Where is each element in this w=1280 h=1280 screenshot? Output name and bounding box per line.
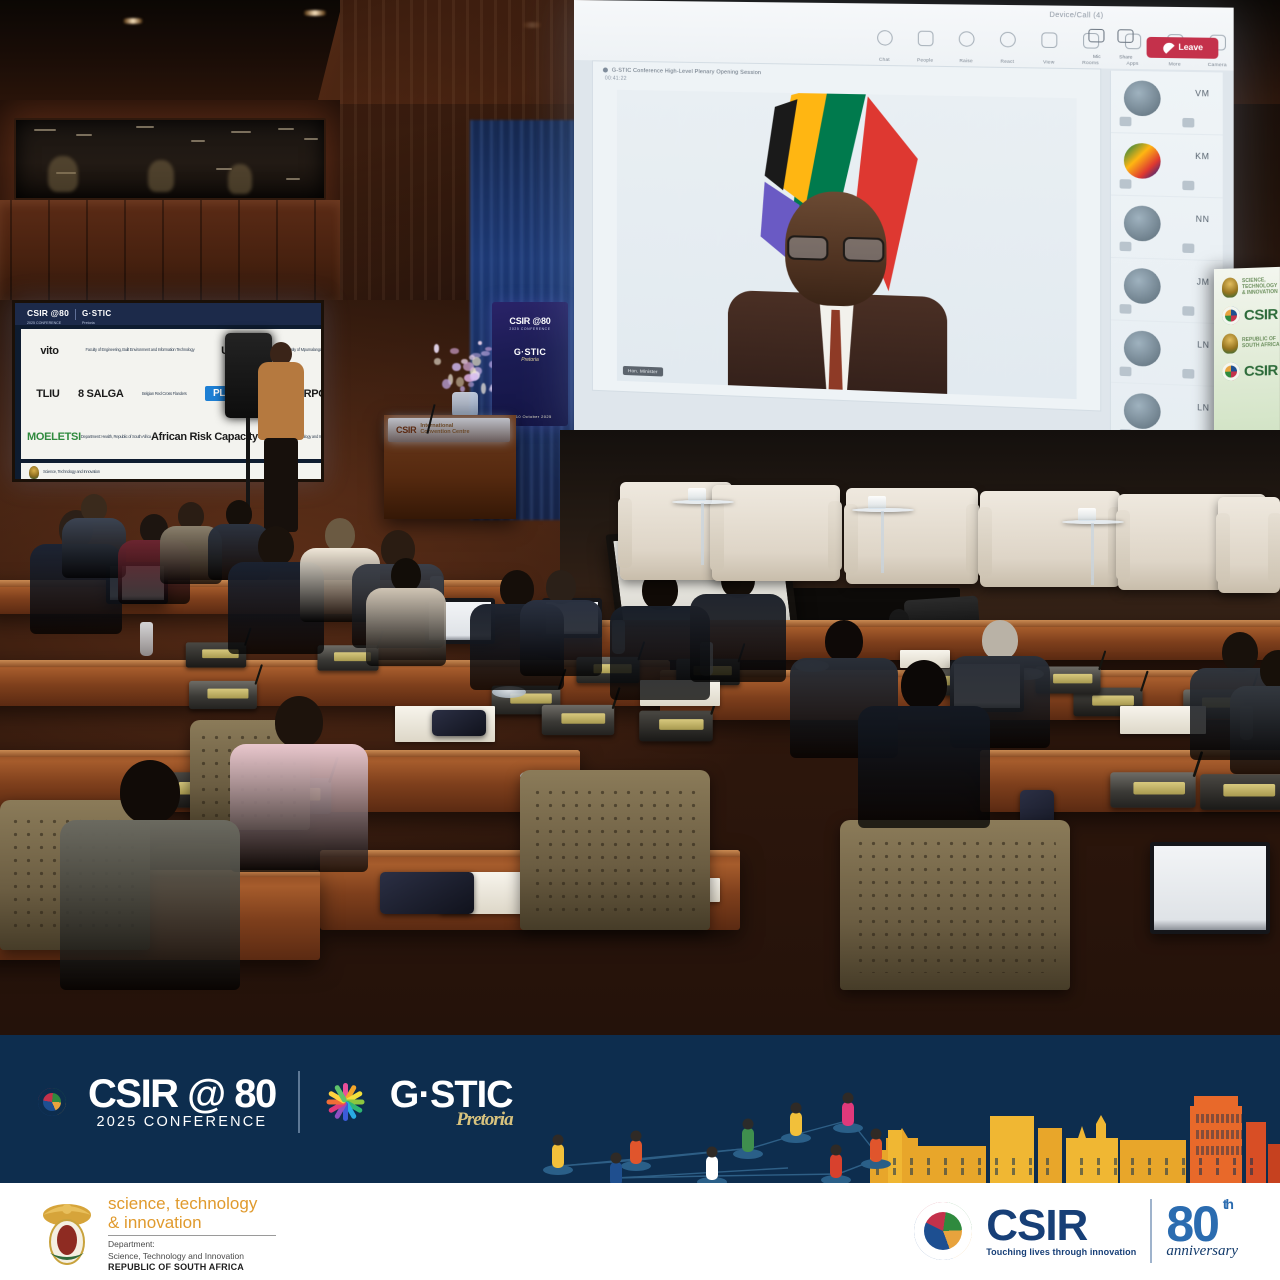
csir-logo-icon [914,1202,972,1260]
stage-armchair [846,488,978,584]
wood-slat [368,0,371,300]
delegate-microphone-unit[interactable] [1110,772,1195,808]
participant-tile[interactable]: JM [1111,258,1223,324]
share-screen-icon [1118,29,1134,43]
person-torso [520,600,602,676]
footer-brand-band: CSIR @ 80 2025 CONFERENCE G·STIC Pretori… [0,1035,1280,1183]
ceiling-light [300,10,330,16]
pullup-dsi-row-2: REPUBLIC OF SOUTH AFRICA [1214,323,1280,354]
presenter-body [258,362,304,440]
partner-logo: Department: Health, Republic of South Af… [81,435,151,440]
armrest [844,504,858,574]
interpreter-booth-glass [14,118,326,200]
participant-initials: JM [1197,277,1210,287]
armrest [710,501,724,571]
ceiling-light [120,18,146,24]
wood-slat [340,0,343,300]
wood-slat [424,0,427,300]
active-speaker-tile[interactable]: Hon. Minister [617,90,1077,399]
water-glasses [868,496,886,509]
booth-highlight [76,134,92,136]
person-torso [858,706,990,828]
speaker-glasses [787,235,884,262]
csir-80-wordmark: CSIR @ 80 2025 CONFERENCE [88,1075,276,1130]
anniversary-block: 80 th anniversary [1166,1202,1238,1260]
booth-highlight [286,178,300,180]
slide-header-gstic: G·STIC Pretoria [82,303,112,325]
toolbar-raise[interactable]: Raise [952,31,979,67]
mic-unit-display [659,719,703,730]
coat-of-arms-icon [1222,277,1238,298]
participant-initials: LN [1197,340,1209,350]
chat-icon [877,30,893,46]
glass-side-table [672,500,734,504]
microphone-icon [1182,369,1194,379]
anniversary-number: 80 th [1166,1196,1218,1252]
mic-control[interactable]: Mic [1089,29,1105,64]
booth-highlight [136,126,154,128]
wood-slat [410,0,413,300]
stage-armchair [712,485,840,581]
person-head [325,518,355,552]
partner-logo: African Risk Capacity [151,431,258,443]
person-torso [230,744,368,872]
ledge-seam [162,200,164,300]
person-torso [366,588,446,666]
microphone-icon [1120,242,1132,252]
conference-chair [520,770,710,930]
mic-unit-display [561,713,605,724]
stage-armchair [980,491,1120,587]
person-head [825,620,863,662]
audience-member [858,660,990,832]
ledge-seam [48,200,50,300]
microphone-icon [1182,243,1194,253]
flower [450,348,459,354]
avatar [1124,143,1161,179]
armrest [828,501,842,571]
armrest [1216,513,1230,583]
conference-hall-photo: CSIR @80 2025 CONFERENCE G·STIC Pretoria… [0,0,1280,1035]
avatar [1124,80,1161,116]
footer-logo-row: CSIR @ 80 2025 CONFERENCE G·STIC Pretori… [38,1071,513,1133]
booth-highlight [191,140,205,142]
slide-header: CSIR @80 2025 CONFERENCE G·STIC Pretoria [15,303,321,325]
teams-meeting-stage: G-STIC Conference High-Level Plenary Ope… [592,60,1101,411]
audience-member [230,696,368,876]
ledge-seam [86,200,88,300]
microphone-icon [1120,304,1132,314]
flower [478,341,482,345]
teams-right-controls[interactable]: Mic Share Leave [1089,29,1219,65]
booth-ledge [0,200,340,300]
partner-logo: 8 SALGA [78,388,124,400]
wood-slat [354,0,357,300]
toolbar-chat[interactable]: Chat [871,30,898,66]
toolbar-label: Chat [879,57,890,62]
flower [434,344,440,353]
footer-white-band: science, technology & innovation Departm… [0,1183,1280,1280]
flower [470,373,477,381]
avatar [1124,330,1161,367]
audience-member [366,558,446,670]
avatar [1124,268,1161,305]
booth-occupant [228,164,252,194]
participant-initials: VM [1195,89,1209,99]
mic-unit-display [1223,784,1275,797]
participant-tile[interactable]: NN [1111,196,1223,262]
mic-unit-display [1092,696,1134,706]
slide-header-divider [75,309,76,320]
meeting-status-dot [603,67,608,72]
ledge-seam [276,200,278,300]
partner-logo: Belgian Red Cross Flanders [142,392,187,397]
delegate-microphone-unit[interactable] [1200,774,1280,810]
mobile-phone[interactable] [432,710,486,736]
participant-initials: LN [1197,403,1209,413]
logo-divider [298,1071,300,1133]
toolbar-people[interactable]: People [912,31,939,67]
wood-slat [382,0,385,300]
booth-occupant [148,160,174,192]
glass-side-table [1062,520,1124,524]
person-torso [62,518,126,578]
person-head [901,660,947,710]
share-control[interactable]: Share [1118,29,1134,64]
toolbar-react[interactable]: React [994,32,1022,69]
participant-tile[interactable]: KM [1111,133,1223,198]
partner-logo: TLIU [36,388,59,400]
person-head [982,620,1018,660]
csir-logo-icon [1222,362,1240,381]
coat-of-arms-icon [1222,333,1238,354]
dsi-text-block: science, technology & innovation Departm… [108,1195,276,1272]
teams-top-bar: Device/Call (4) ChatPeopleRaiseReactView… [574,0,1234,71]
person-head [546,570,576,604]
pretoria-skyline-graphic [520,1088,1280,1183]
logo-divider [1150,1199,1152,1263]
south-africa-coat-of-arms-icon [38,1195,96,1267]
microphone-icon [1120,179,1132,189]
ledge-seam [10,200,12,300]
leave-call-button[interactable]: Leave [1147,36,1218,58]
audience-member [520,570,602,680]
microphone-icon [1120,366,1132,376]
person-head [120,760,180,824]
pullup-csir-row-2: CSIR [1214,352,1280,381]
mic-unit-display [1133,782,1185,794]
toolbar-label: People [917,57,933,62]
microphone-icon [1089,29,1105,43]
toolbar-label: Raise [959,58,972,63]
flower [485,347,492,352]
mobile-phone[interactable] [380,872,474,914]
laptop[interactable] [1150,842,1270,934]
booth-highlight [304,138,318,140]
ledge-seam [238,200,240,300]
flower [463,362,474,371]
person-torso [60,820,240,990]
microphone-icon [1182,181,1194,191]
person-head [1260,650,1280,690]
booth-highlight [278,128,294,130]
microphone-icon [1120,117,1132,127]
conference-chair [840,820,1070,990]
flower [442,379,451,389]
partner-logo: Faculty of Engineering, Built Environmen… [85,348,194,353]
flower [469,355,475,360]
people-icon [917,31,933,47]
flower [434,358,441,364]
participant-tile[interactable]: LN [1111,320,1223,387]
booth-occupant [48,156,78,192]
person-torso [1230,686,1280,774]
delegate-microphone-unit[interactable] [542,705,614,735]
pullup-csir-row-1: CSIR [1214,296,1280,325]
mic-unit-display [1053,674,1092,683]
participant-tile[interactable]: VM [1111,71,1223,136]
flower [481,383,486,394]
podium-banner: CSIR @80 2025 CONFERENCE G·STIC Pretoria… [492,302,568,426]
csir-name-block: CSIR Touching lives through innovation [986,1205,1136,1258]
person-head [258,526,294,566]
armrest [1268,513,1280,583]
view-grid-icon [1041,32,1057,48]
partner-logo: vito [40,345,58,357]
toolbar-label: React [1000,59,1014,64]
flower-arrangement [432,336,498,398]
armrest [978,507,992,577]
microphone-icon [1182,306,1194,316]
csir-80th-logo: CSIR Touching lives through innovation 8… [914,1199,1238,1263]
delegate-microphone-unit[interactable] [639,711,713,742]
glass-side-table [852,508,914,512]
ledge-seam [314,200,316,300]
audience-member [60,760,240,994]
csir-logo-icon [1222,306,1240,325]
armrest [618,498,632,568]
reactions-icon [999,32,1015,48]
teams-meta-text: Device/Call (4) [1049,12,1103,20]
audience-member [1230,650,1280,778]
partner-logo: MOELETSI [27,431,81,443]
raise-hand-icon [958,31,974,47]
toolbar-view[interactable]: View [1035,32,1063,69]
wood-slat [396,0,399,300]
audience-member [62,494,126,582]
person-head [275,696,323,748]
water-glasses [1078,508,1096,521]
wood-slat [466,0,469,300]
gstic-wordmark: G·STIC Pretoria [390,1076,513,1129]
dsi-divider [108,1235,276,1236]
avatar [1124,393,1161,430]
dsi-logo: science, technology & innovation Departm… [38,1195,276,1272]
speaker-name-label: Hon. Minister [623,366,663,377]
flower [452,363,461,372]
participant-initials: KM [1195,152,1209,162]
participant-initials: NN [1196,214,1210,224]
avatar [1124,205,1161,241]
participant-rail[interactable]: VMKMNNJMLNLN [1110,71,1223,463]
booth-highlight [34,129,56,131]
gstic-pinwheel-icon [322,1079,368,1125]
wood-slat [438,0,441,300]
flower [468,382,474,386]
water-bottle [140,622,153,656]
microphone-icon [1182,118,1194,128]
person-head [391,558,421,592]
pullup-dsi-row: SCIENCE, TECHNOLOGY & INNOVATION [1214,267,1280,298]
booth-highlight [231,131,251,133]
wood-slat [452,0,455,300]
person-torso [690,594,786,682]
flower [481,351,490,357]
main-projection-screen: Device/Call (4) ChatPeopleRaiseReactView… [574,0,1234,469]
lectern-front-panel: CSIR International Convention Centre [388,418,510,442]
slide-header-csir: CSIR @80 2025 CONFERENCE [27,303,69,325]
csir-logo-icon [38,1088,66,1116]
hangup-icon [1161,40,1175,53]
water-glasses [688,488,706,501]
ledge-seam [124,200,126,300]
toolbar-label: View [1043,59,1054,64]
stage-armchair [1218,497,1280,593]
ledge-seam [200,200,202,300]
